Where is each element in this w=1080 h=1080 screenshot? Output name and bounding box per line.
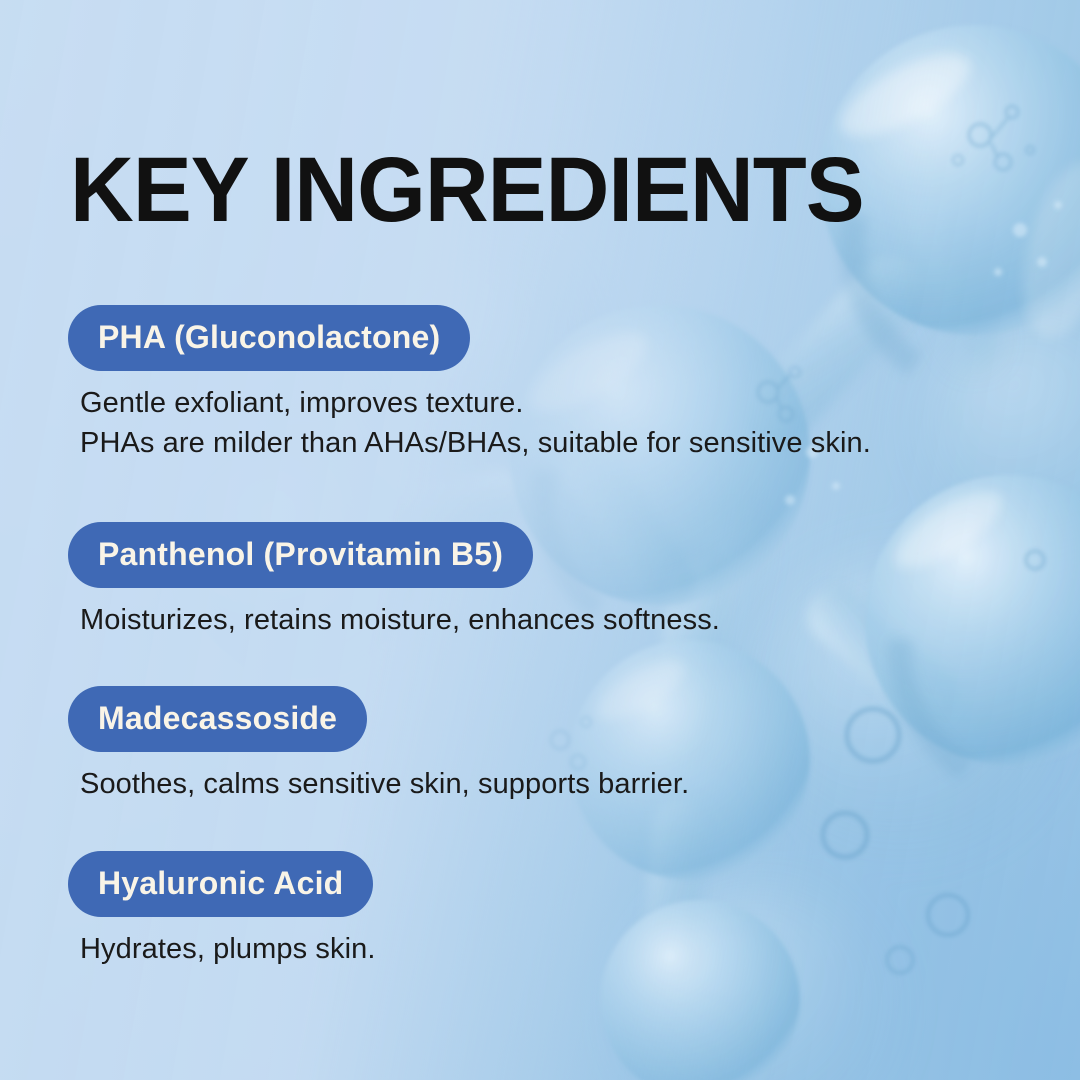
description-line: Soothes, calms sensitive skin, supports … [80, 765, 689, 805]
description-line: Hydrates, plumps skin. [80, 930, 376, 970]
ingredient-item-madecassoside: Madecassoside Soothes, calms sensitive s… [68, 686, 689, 805]
ingredient-item-pha: PHA (Gluconolactone) Gentle exfoliant, i… [68, 305, 871, 463]
description-line: Moisturizes, retains moisture, enhances … [80, 601, 720, 641]
ingredient-item-hyaluronic-acid: Hyaluronic Acid Hydrates, plumps skin. [68, 851, 376, 970]
description-line: PHAs are milder than AHAs/BHAs, suitable… [80, 424, 871, 464]
ingredient-description: Moisturizes, retains moisture, enhances … [80, 601, 720, 641]
ingredient-name-badge[interactable]: Panthenol (Provitamin B5) [68, 522, 533, 588]
ingredient-description: Soothes, calms sensitive skin, supports … [80, 765, 689, 805]
page-title: KEY INGREDIENTS [70, 144, 864, 236]
ingredient-item-panthenol: Panthenol (Provitamin B5) Moisturizes, r… [68, 522, 720, 641]
ingredient-name-badge[interactable]: PHA (Gluconolactone) [68, 305, 470, 371]
ingredient-description: Gentle exfoliant, improves texture. PHAs… [80, 384, 871, 463]
ingredient-name-badge[interactable]: Madecassoside [68, 686, 367, 752]
description-line: Gentle exfoliant, improves texture. [80, 384, 871, 424]
poster-content: KEY INGREDIENTS PHA (Gluconolactone) Gen… [0, 0, 1080, 1080]
key-ingredients-poster: KEY INGREDIENTS PHA (Gluconolactone) Gen… [0, 0, 1080, 1080]
ingredient-description: Hydrates, plumps skin. [80, 930, 376, 970]
ingredient-name-badge[interactable]: Hyaluronic Acid [68, 851, 373, 917]
